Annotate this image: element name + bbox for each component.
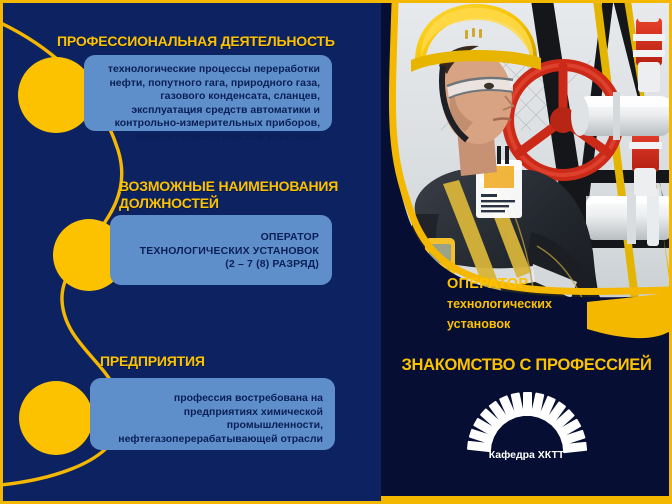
bottom-yellow-strip	[381, 496, 672, 504]
job-name-line-2: ТЕХНОЛОГИЧЕСКИХ УСТАНОВОК	[120, 245, 319, 259]
worker-photo-artwork	[381, 0, 672, 415]
bullet-circle-1	[18, 57, 94, 133]
emblem-label: Кафедра ХКТТ	[381, 449, 672, 461]
section-card-professional-activity: технологические процессы переработки неф…	[84, 55, 332, 131]
section-card-enterprises: профессия востребована на предприятиях х…	[90, 378, 335, 450]
section-heading-professional-activity: ПРОФЕССИОНАЛЬНАЯ ДЕЯТЕЛЬНОСТЬ	[57, 33, 357, 50]
photo-job-title-line-1: ОПЕРАТОР	[447, 274, 552, 294]
section-card-job-names: ОПЕРАТОР ТЕХНОЛОГИЧЕСКИХ УСТАНОВОК (2 – …	[110, 215, 332, 285]
poster-root: ПРОФЕССИОНАЛЬНАЯ ДЕЯТЕЛЬНОСТЬ технологич…	[0, 0, 672, 504]
section-heading-job-names: ВОЗМОЖНЫЕ НАИМЕНОВАНИЯ ДОЛЖНОСТЕЙ	[119, 178, 359, 212]
poster-main-caption: ЗНАКОМСТВО С ПРОФЕССИЕЙ	[381, 356, 672, 375]
enterprises-line-3: нефтегазоперерабатывающей отрасли	[100, 433, 323, 447]
section-card-professional-activity-text: технологические процессы переработки неф…	[94, 63, 320, 144]
bullet-circle-3	[19, 381, 93, 455]
photo-job-title-line-3: установок	[447, 314, 552, 334]
job-name-line-3: (2 – 7 (8) РАЗРЯД)	[120, 258, 319, 272]
worker-photo	[381, 0, 672, 415]
emblem-arc-icon	[417, 390, 637, 500]
photo-job-title: ОПЕРАТОР технологических установок	[447, 274, 552, 334]
enterprises-line-1: профессия востребована на	[100, 392, 323, 406]
job-name-line-1: ОПЕРАТОР	[120, 231, 319, 245]
right-panel: ОПЕРАТОР технологических установок ЗНАКО…	[381, 0, 672, 504]
photo-job-title-line-2: технологических	[447, 294, 552, 314]
enterprises-line-2: предприятиях химической промышленности,	[100, 406, 323, 433]
section-heading-enterprises: ПРЕДПРИЯТИЯ	[100, 353, 360, 370]
